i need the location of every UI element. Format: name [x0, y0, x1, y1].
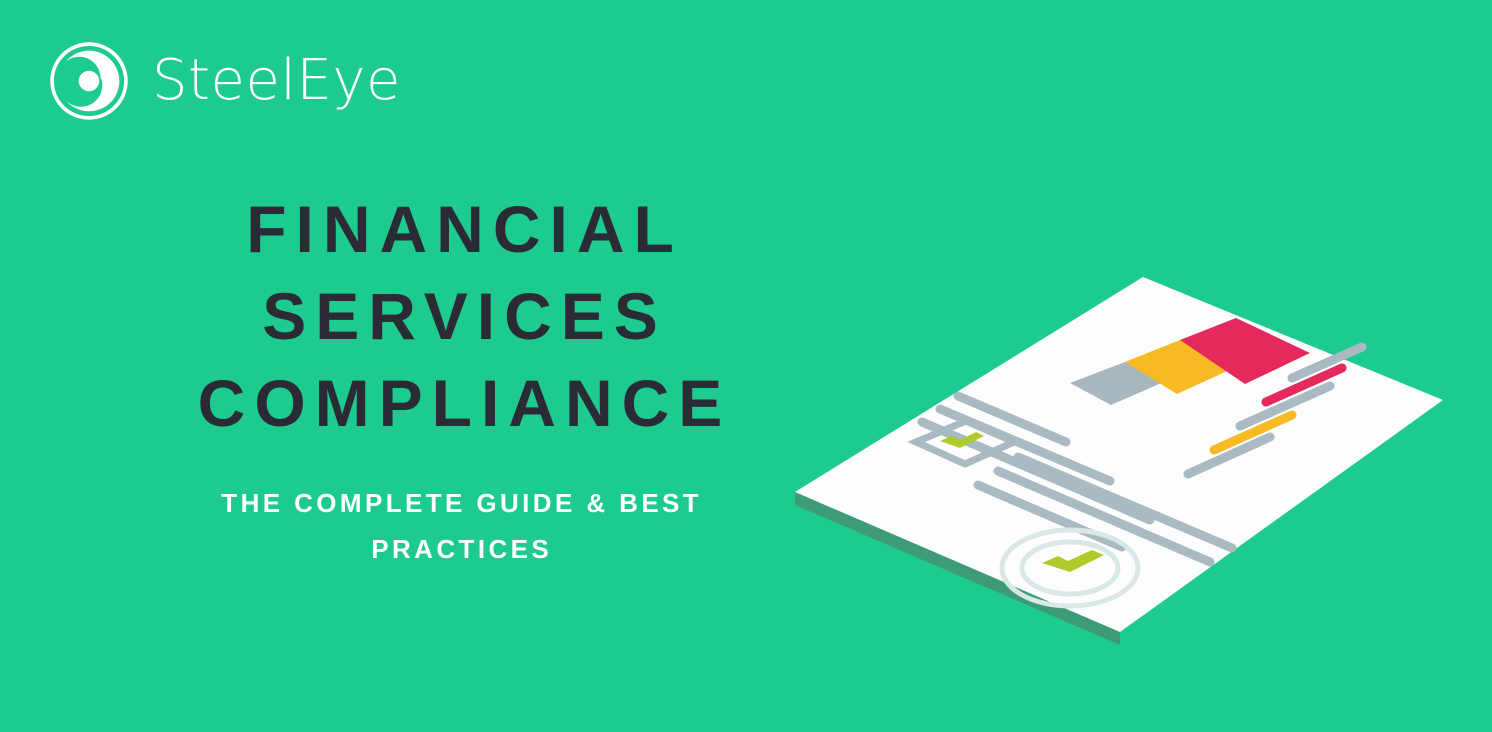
brand-lockup[interactable]: SteelEye: [48, 40, 401, 122]
banner-root: SteelEye FINANCIAL SERVICES COMPLIANCE T…: [0, 0, 1492, 732]
subtitle-line-1: THE COMPLETE GUIDE & BEST: [174, 481, 746, 527]
headline-line-3: COMPLIANCE: [150, 360, 770, 447]
steeleye-iris-logo-icon: [48, 40, 130, 122]
headline-line-2: SERVICES: [150, 273, 770, 360]
approval-seal-group: [1002, 530, 1138, 606]
page-title: FINANCIAL SERVICES COMPLIANCE: [150, 186, 770, 447]
compliance-document-illustration: [770, 250, 1470, 670]
subtitle-line-2: PRACTICES: [174, 527, 746, 573]
document-page: [795, 277, 1443, 632]
brand-wordmark: SteelEye: [152, 53, 401, 109]
page-subtitle: THE COMPLETE GUIDE & BEST PRACTICES: [150, 481, 770, 572]
headline-block: FINANCIAL SERVICES COMPLIANCE THE COMPLE…: [150, 186, 770, 572]
headline-line-1: FINANCIAL: [150, 186, 770, 273]
hero-illustration: [770, 250, 1470, 670]
